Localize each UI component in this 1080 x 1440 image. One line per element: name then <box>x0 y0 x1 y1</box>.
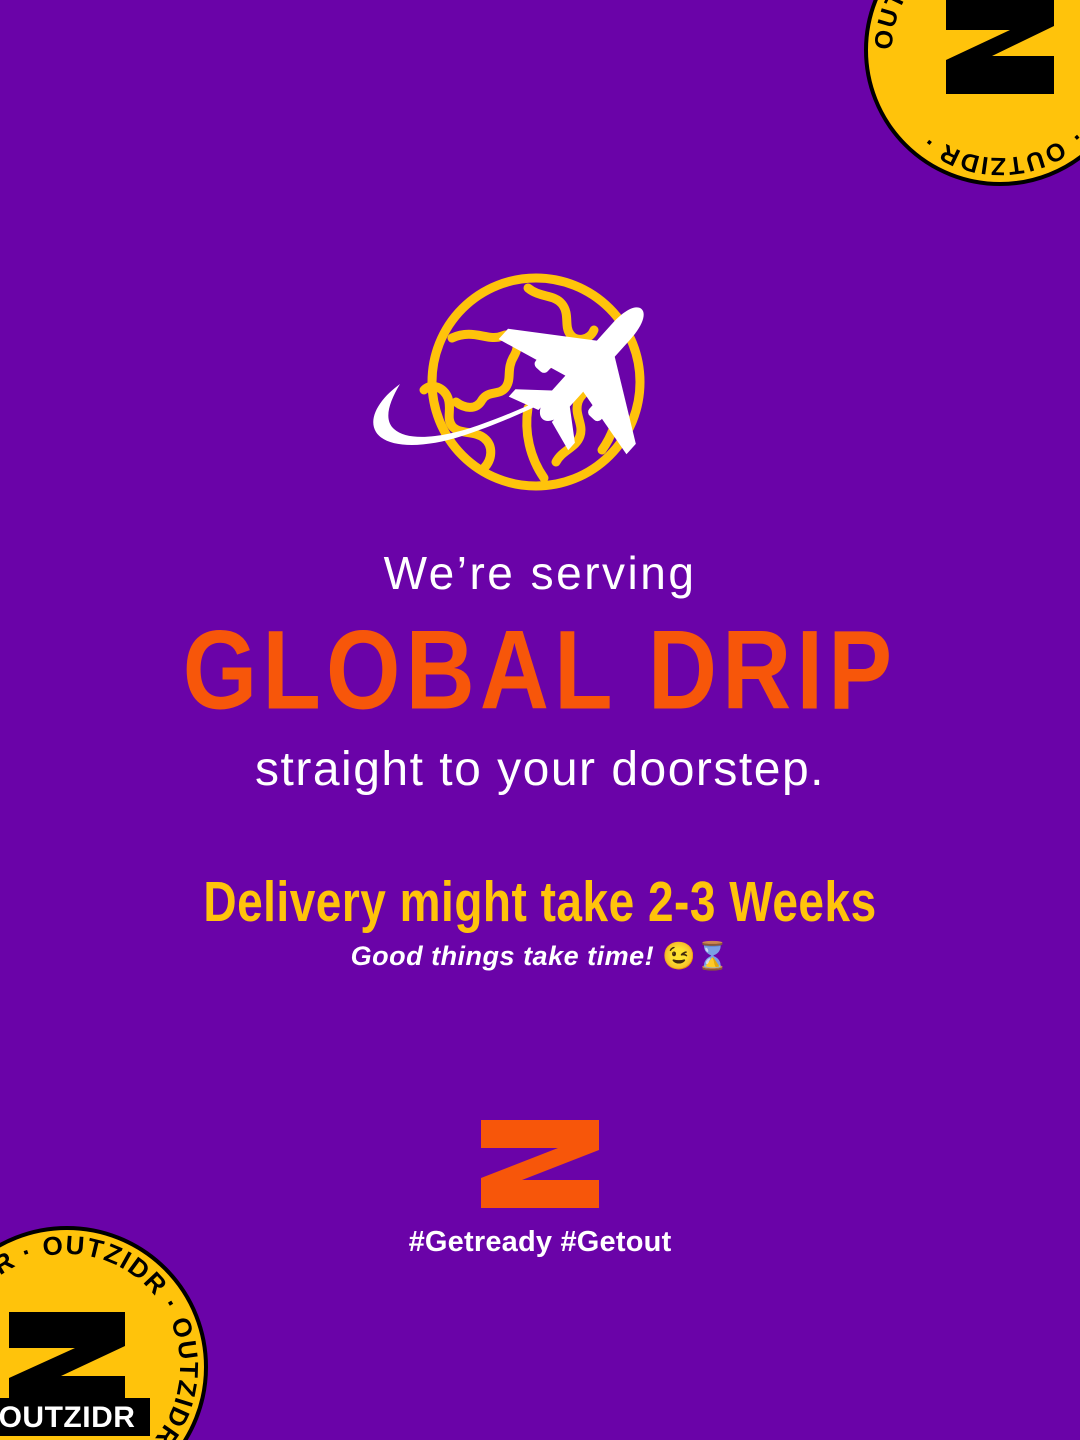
poster-canvas: OUTZIDR · OUTZIDR · OUTZIDR · OUTZIDR · … <box>0 0 1080 1440</box>
serving-line: We’re serving <box>0 548 1080 600</box>
doorstep-line: straight to your doorstep. <box>0 744 1080 797</box>
outzidr-z-logo <box>478 1118 602 1210</box>
hashtags-line: #Getready #Getout <box>0 1226 1080 1259</box>
headline-copy-block: We’re serving GLOBAL DRIP straight to yo… <box>0 548 1080 971</box>
globe-airplane-icon <box>356 272 706 512</box>
svg-text:OUTZIDR: OUTZIDR <box>0 1401 135 1434</box>
delivery-estimate-line: Delivery might take 2-3 Weeks <box>0 871 1080 933</box>
subnote-line: Good things take time! 😉⌛ <box>0 942 1080 972</box>
outzidr-sticker-top-right: OUTZIDR · OUTZIDR · OUTZIDR · OUTZIDR · <box>860 0 1080 190</box>
footer-brand-block: #Getready #Getout <box>0 1118 1080 1259</box>
headline-global-drip: GLOBAL DRIP <box>0 612 1080 730</box>
wink-hourglass-emoji: 😉⌛ <box>662 941 729 971</box>
subnote-text: Good things take time! <box>351 941 655 971</box>
